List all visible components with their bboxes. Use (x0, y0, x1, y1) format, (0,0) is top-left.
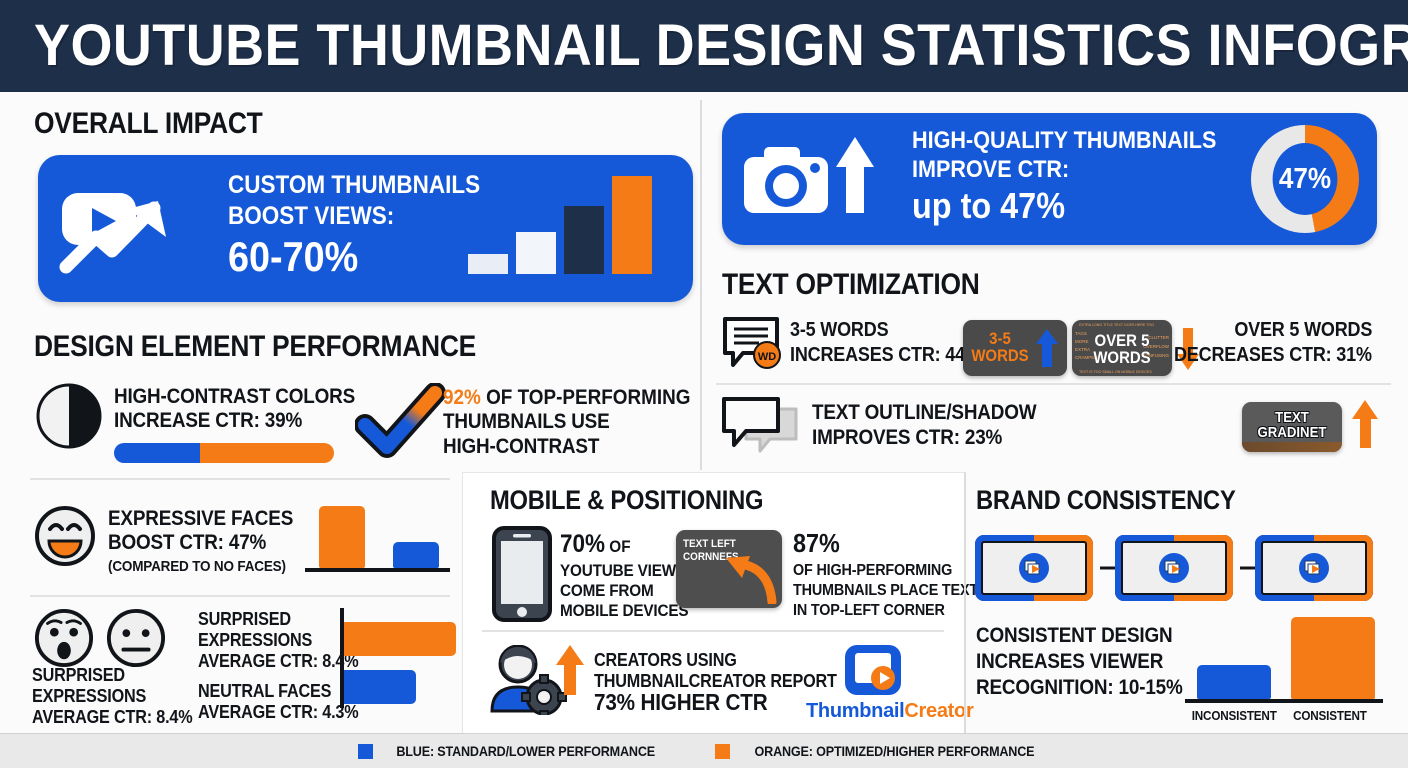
mobile-stat: 70% (560, 530, 605, 558)
divider-text-opt (716, 383, 1391, 385)
brand-frame-1 (975, 535, 1093, 601)
expressive-faces-note: (COMPARED TO NO FACES) (108, 558, 286, 576)
page-title: YOUTUBE THUMBNAIL DESIGN STATISTICS INFO… (34, 17, 1408, 75)
custom-thumbnails-line2: BOOST VIEWS: (228, 202, 394, 231)
top-performing-line2: THUMBNAILS USE (443, 411, 610, 432)
custom-thumbnails-line1: CUSTOM THUMBNAILS (228, 171, 480, 200)
divider-faces-top (30, 478, 450, 480)
stack-play-icon (1164, 559, 1184, 577)
axis-label-consistent: CONSISTENT (1293, 708, 1367, 723)
brand-frame-3-inner (1261, 541, 1367, 595)
infographic-page: YOUTUBE THUMBNAIL DESIGN STATISTICS INFO… (0, 0, 1408, 768)
bar-3 (564, 206, 604, 274)
arrow-up-orange-creators-icon (556, 645, 584, 695)
speech-bubbles-icon (720, 395, 804, 459)
consistency-line2: INCREASES VIEWER (976, 651, 1163, 672)
donut-ring: 47% (1251, 125, 1359, 233)
mobile-phone-icon (492, 526, 552, 622)
smiley-face-icon (34, 505, 96, 567)
section-title-brand-consistency: BRAND CONSISTENCY (976, 485, 1236, 516)
custom-thumbnails-card: CUSTOM THUMBNAILS BOOST VIEWS: 60-70% (38, 155, 693, 302)
words-over5-line1: OVER 5 WORDS (1234, 320, 1372, 341)
contrast-circle-icon (36, 383, 102, 449)
high-quality-value: up to 47% (912, 185, 1065, 227)
bar-expressive (319, 506, 365, 568)
bar-1 (468, 254, 508, 274)
brand-frame-3 (1255, 535, 1373, 601)
top-performing-line1: 92% OF TOP-PERFORMING (443, 386, 690, 410)
neutral-line1: NEUTRAL FACES (198, 681, 331, 702)
top-performing-stat: 92% (443, 386, 481, 409)
expressions-caption-line1: SURPRISED (32, 665, 125, 686)
logo-thumbnail-text: Thumbnail (806, 700, 904, 722)
thumbnail-creator-app-icon (845, 645, 901, 695)
donut-center-label: 47% (1273, 143, 1338, 215)
legend-item-blue: BLUE: STANDARD/LOWER PERFORMANCE (358, 743, 669, 759)
bar-no-faces (393, 542, 439, 568)
clutter-bottom-text: TEXT IS TOO SMALL ON MOBILE DEVICES (1079, 369, 1152, 374)
bar-consistent (1291, 617, 1375, 699)
mobile-line3: COME FROM (560, 580, 654, 601)
thumbnail-gradient-strip (1242, 442, 1342, 452)
stack-play-icon (1024, 559, 1044, 577)
high-contrast-line1: HIGH-CONTRAST COLORS (114, 386, 355, 407)
clutter-top-text: EXTRA LONG TITLE TEXT GOES HERE TOO (1079, 322, 1154, 327)
divider-vertical-top (700, 100, 702, 470)
youtube-growth-icon (50, 175, 200, 285)
consistency-chart-baseline (1185, 699, 1383, 703)
ctr-donut-chart: 47% (1251, 125, 1359, 233)
consistency-line3: RECOGNITION: 10-15% (976, 677, 1183, 698)
text-lines-bubble-icon: WD (721, 315, 787, 371)
legend-footer: BLUE: STANDARD/LOWER PERFORMANCE ORANGE:… (0, 733, 1408, 768)
high-contrast-progress-bar (114, 443, 334, 463)
creators-line1: CREATORS USING (594, 650, 737, 671)
high-quality-line1: HIGH-QUALITY THUMBNAILS (912, 127, 1216, 155)
mobile-line4: MOBILE DEVICES (560, 600, 688, 621)
top-left-corner-line3: THUMBNAILS PLACE TEXT (793, 580, 978, 601)
surprised-face-icon (34, 608, 94, 668)
neutral-line2: AVERAGE CTR: 4.3% (198, 702, 358, 723)
top-performing-line3: HIGH-CONTRAST (443, 436, 599, 457)
growth-bar-chart (468, 174, 668, 274)
high-quality-card: HIGH-QUALITY THUMBNAILS IMPROVE CTR: up … (722, 113, 1377, 245)
bar-neutral (344, 670, 416, 704)
section-title-overall-impact: OVERALL IMPACT (34, 107, 263, 141)
curved-arrow-icon (722, 552, 778, 604)
mobile-line2: YOUTUBE VIEWS (560, 560, 686, 581)
mobile-of: OF (605, 537, 631, 556)
legend-swatch-orange (715, 744, 730, 759)
divider-mobile (482, 630, 944, 632)
brand-frame-1-inner (981, 541, 1087, 595)
high-contrast-line2: INCREASE CTR: 39% (114, 410, 302, 431)
neutral-face-icon (106, 608, 166, 668)
top-left-corner-line4: IN TOP-LEFT CORNER (793, 600, 945, 621)
thumbnail-3-5-words-label: 3-5 WORDS (971, 330, 1029, 365)
high-quality-line2: IMPROVE CTR: (912, 156, 1069, 184)
divider-vertical-brand (964, 472, 966, 734)
section-title-text-optimization: TEXT OPTIMIZATION (722, 268, 980, 302)
expressive-faces-chart (305, 500, 455, 572)
thumbnail-over-5-words-label: OVER 5 WORDS (1090, 332, 1153, 367)
bar-surprised (344, 622, 456, 656)
arrow-up-blue-icon (1036, 329, 1058, 367)
brand-frame-3-icon (1299, 553, 1329, 583)
section-title-mobile-positioning: MOBILE & POSITIONING (490, 485, 763, 516)
surprised-line3: AVERAGE CTR: 8.4% (198, 651, 358, 672)
top-performing-rest: OF TOP-PERFORMING (481, 386, 691, 409)
thumbnail-text-left-corner: TEXT LEFT CORNNEFS (676, 530, 782, 608)
thumbnail-text-gradient: TEXT GRADINET (1242, 402, 1342, 452)
words-35-line2: INCREASES CTR: 44% (790, 345, 981, 366)
expressive-faces-line2: BOOST CTR: 47% (108, 532, 266, 553)
surprised-line2: EXPRESSIONS (198, 630, 312, 651)
brand-frame-1-icon (1019, 553, 1049, 583)
words-35-line1: 3-5 WORDS (790, 320, 888, 341)
thumbnail-over-5-words: EXTRA LONG TITLE TEXT GOES HERE TOO TEXT… (1072, 320, 1172, 376)
words-over5-line2: DECREASES CTR: 31% (1174, 345, 1372, 366)
brand-frame-2 (1115, 535, 1233, 601)
infographic-header: YOUTUBE THUMBNAIL DESIGN STATISTICS INFO… (0, 0, 1408, 92)
bar-4 (612, 176, 652, 274)
legend-label-blue: BLUE: STANDARD/LOWER PERFORMANCE (396, 743, 655, 759)
bar-inconsistent (1197, 665, 1271, 699)
text-outline-line1: TEXT OUTLINE/SHADOW (812, 402, 1036, 423)
surprised-line1: SURPRISED (198, 609, 291, 630)
divider-faces-mid (30, 595, 450, 597)
thumbnail-3-5-words: 3-5 WORDS (963, 320, 1067, 376)
axis-label-inconsistent: INCONSISTENT (1192, 708, 1277, 723)
text-outline-line2: IMPROVES CTR: 23% (812, 427, 1002, 448)
consistency-line1: CONSISTENT DESIGN (976, 625, 1172, 646)
legend-item-orange: ORANGE: OPTIMIZED/HIGHER PERFORMANCE (715, 743, 1050, 759)
brand-frame-2-inner (1121, 541, 1227, 595)
expressions-caption-line2: EXPRESSIONS (32, 686, 146, 707)
custom-thumbnails-value: 60-70% (228, 233, 358, 281)
section-title-design-element: DESIGN ELEMENT PERFORMANCE (34, 330, 476, 364)
bar-2 (516, 232, 556, 274)
stack-play-icon (1304, 559, 1324, 577)
app-icon-play (870, 665, 896, 691)
chart-baseline (305, 568, 450, 572)
thumbnail-text-gradient-label: TEXT GRADINET (1248, 410, 1336, 441)
expressive-faces-line1: EXPRESSIVE FACES (108, 508, 293, 529)
mobile-stat-line: 70% OF (560, 530, 631, 559)
brand-frame-2-icon (1159, 553, 1189, 583)
expressions-caption-line3: AVERAGE CTR: 8.4% (32, 707, 192, 728)
expressions-bar-chart (340, 608, 460, 708)
checkmark-icon (355, 383, 447, 459)
arrow-up-orange-icon (1352, 400, 1378, 448)
top-left-corner-line2: OF HIGH-PERFORMING (793, 560, 952, 581)
creators-line3: 73% HIGHER CTR (594, 692, 767, 713)
svg-text:WD: WD (758, 351, 776, 363)
legend-label-orange: ORANGE: OPTIMIZED/HIGHER PERFORMANCE (755, 743, 1035, 759)
camera-arrow-icon (738, 129, 888, 229)
thumbnail-creator-logo: ThumbnailCreator (806, 700, 973, 723)
progress-orange-segment (200, 443, 334, 463)
consistency-bar-chart: INCONSISTENT CONSISTENT (1185, 615, 1385, 705)
progress-blue-segment (114, 443, 200, 463)
legend-swatch-blue (358, 744, 373, 759)
top-left-corner-stat: 87% (793, 528, 840, 559)
